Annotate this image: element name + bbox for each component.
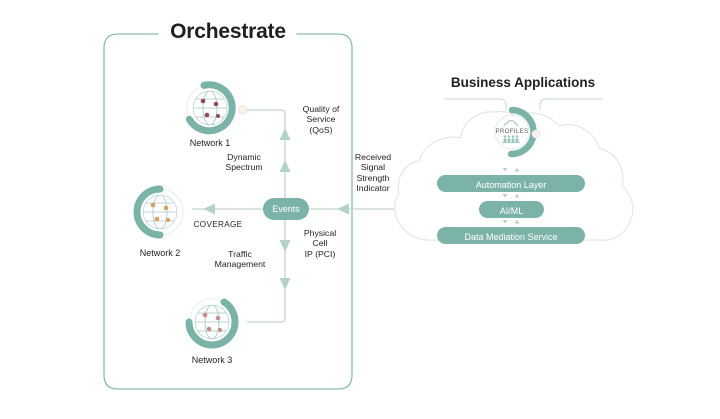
network-3-icon [189, 299, 235, 345]
edge-label-physical-cell-id: Physical Cell IP (PCI) [293, 228, 347, 259]
network-2-icon [137, 189, 183, 235]
network-2-label: Network 2 [125, 248, 195, 259]
arrowhead-coverage [203, 204, 215, 215]
arrowhead-pci-lower [280, 278, 291, 290]
edge-label-traffic-management: Traffic Management [205, 249, 275, 270]
edge-label-dynamic-spectrum: Dynamic Spectrum [213, 152, 275, 173]
business-applications-bracket [444, 99, 602, 110]
arrowhead-qos-upper [280, 128, 291, 140]
network-1-icon [187, 81, 240, 138]
network-3-label: Network 3 [177, 355, 247, 366]
network-1-label: Network 1 [175, 138, 245, 149]
diagram-canvas: Orchestrate Business Applications Networ… [0, 0, 720, 419]
data-mediation-service-label: Data Mediation Service [437, 232, 585, 242]
ai-ml-label: AI/ML [479, 206, 544, 216]
edge-label-coverage: COVERAGE [178, 220, 258, 230]
profiles-label: PROFILES [492, 128, 532, 135]
edge-label-qos: Quality of Service (QoS) [290, 104, 352, 135]
arrowhead-pci-upper [280, 240, 291, 252]
arrowhead-qos-lower [280, 160, 291, 172]
diagram-svg [0, 0, 720, 419]
edge-origin-dot [239, 106, 247, 114]
section-title-business-applications: Business Applications [428, 75, 618, 91]
page-title: Orchestrate [158, 20, 298, 45]
automation-layer-label: Automation Layer [437, 180, 585, 190]
edge-label-rssi: Received Signal Strength Indicator [345, 152, 401, 193]
events-label: Events [263, 204, 309, 214]
arrowhead-rssi [337, 204, 349, 215]
